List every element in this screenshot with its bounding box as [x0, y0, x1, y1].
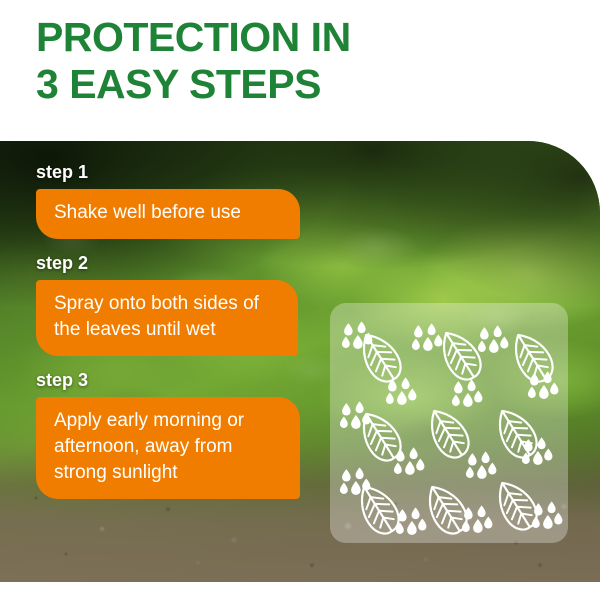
step-label-1: step 1 [36, 161, 336, 183]
step-item-3: step 3 Apply early morning or afternoon,… [36, 369, 336, 499]
page-title-line-1: PROTECTION IN [36, 14, 576, 61]
droplet-cluster-icon [396, 507, 426, 534]
leaf-outline-icon [353, 327, 407, 388]
droplet-cluster-icon [452, 379, 482, 406]
page-title: PROTECTION IN 3 EASY STEPS [36, 14, 576, 108]
droplet-cluster-icon [412, 323, 442, 350]
page-title-line-2: 3 EASY STEPS [36, 61, 576, 108]
step-item-1: step 1 Shake well before use [36, 161, 336, 239]
leaf-outline-icon [489, 403, 543, 464]
step-label-3: step 3 [36, 369, 336, 391]
droplet-cluster-icon [478, 325, 508, 352]
droplet-cluster-icon [466, 451, 496, 478]
step-bubble-3: Apply early morning or afternoon, away f… [36, 397, 300, 499]
leaf-outline-icon [433, 325, 487, 386]
steps-list: step 1 Shake well before use step 2 Spra… [36, 161, 336, 499]
step-bubble-2: Spray onto both sides of the leaves unti… [36, 280, 298, 356]
step-label-2: step 2 [36, 252, 336, 274]
poster-canvas: PROTECTION IN 3 EASY STEPS step 1 Shake … [0, 0, 600, 600]
leaf-droplet-pattern-panel [330, 303, 568, 543]
step-item-2: step 2 Spray onto both sides of the leav… [36, 252, 336, 356]
step-bubble-1: Shake well before use [36, 189, 300, 239]
leaf-outline-icon [421, 403, 475, 464]
